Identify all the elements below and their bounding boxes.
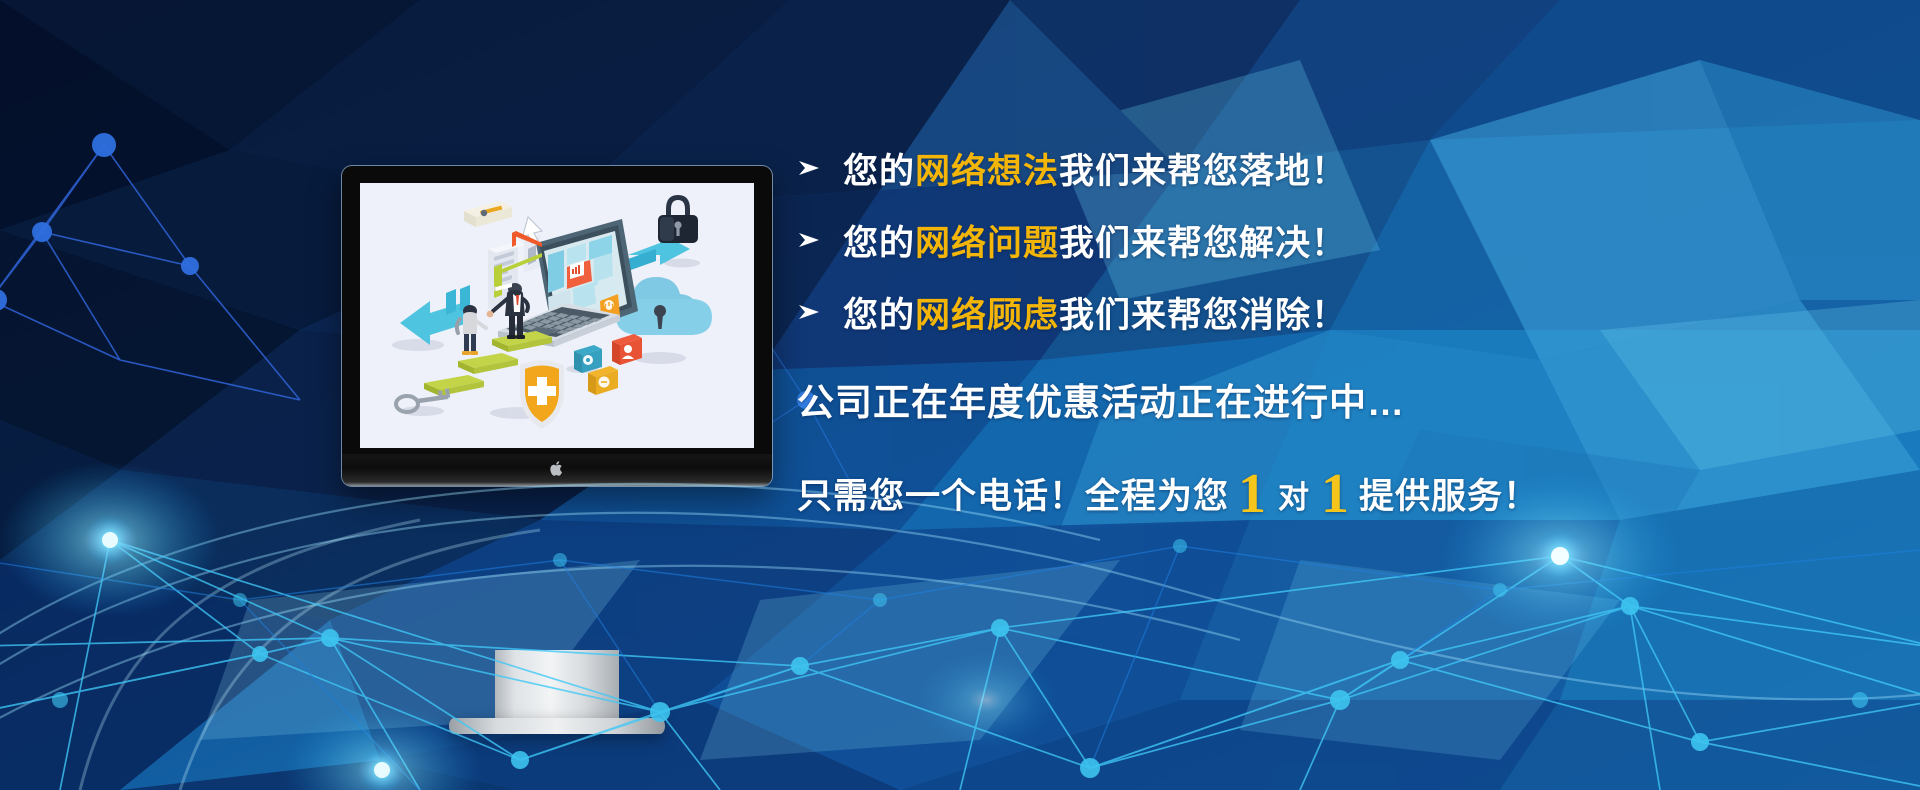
cta-tail: 提供服务！ <box>1359 468 1539 519</box>
bullet-highlight-1: 网络想法 <box>915 152 1059 191</box>
bullet-prefix-2: 您的 <box>843 224 915 263</box>
cta-middle: 对 <box>1276 472 1312 517</box>
bullet-highlight-3: 网络顾虑 <box>915 296 1059 335</box>
bullet-suffix-1: 我们来帮您落地！ <box>1059 152 1347 191</box>
bullet-item-3: 您的网络顾虑我们来帮您消除！ <box>797 282 1807 342</box>
bullet-text-2: 您的网络问题我们来帮您解决！ <box>843 215 1347 266</box>
promo-line: 公司正在年度优惠活动正在进行中… <box>797 372 1807 426</box>
cta-lead: 只需您一个电话！全程为您 <box>797 468 1229 519</box>
bullet-text-1: 您的网络想法我们来帮您落地！ <box>843 143 1347 194</box>
cta-number-second: 1 <box>1312 466 1359 522</box>
cta-number-first: 1 <box>1229 466 1276 522</box>
arrow-bullet-icon <box>797 231 843 249</box>
bullet-item-1: 您的网络想法我们来帮您落地！ <box>797 138 1807 198</box>
arrow-bullet-icon <box>797 159 843 177</box>
bullet-prefix-1: 您的 <box>843 152 915 191</box>
bullet-suffix-2: 我们来帮您解决！ <box>1059 224 1347 263</box>
arrow-bullet-icon <box>797 303 843 321</box>
bullet-suffix-3: 我们来帮您消除！ <box>1059 296 1347 335</box>
hero-banner: 您的网络想法我们来帮您落地！ 您的网络问题我们来帮您解决！ 您的网络顾虑我们来帮… <box>0 0 1920 790</box>
marketing-copy: 您的网络想法我们来帮您落地！ 您的网络问题我们来帮您解决！ 您的网络顾虑我们来帮… <box>797 138 1807 519</box>
bullet-prefix-3: 您的 <box>843 296 915 335</box>
bullet-item-2: 您的网络问题我们来帮您解决！ <box>797 210 1807 270</box>
bullet-highlight-2: 网络问题 <box>915 224 1059 263</box>
cta-line: 只需您一个电话！全程为您 1 对 1 提供服务！ <box>797 462 1807 519</box>
bullet-text-3: 您的网络顾虑我们来帮您消除！ <box>843 287 1347 338</box>
